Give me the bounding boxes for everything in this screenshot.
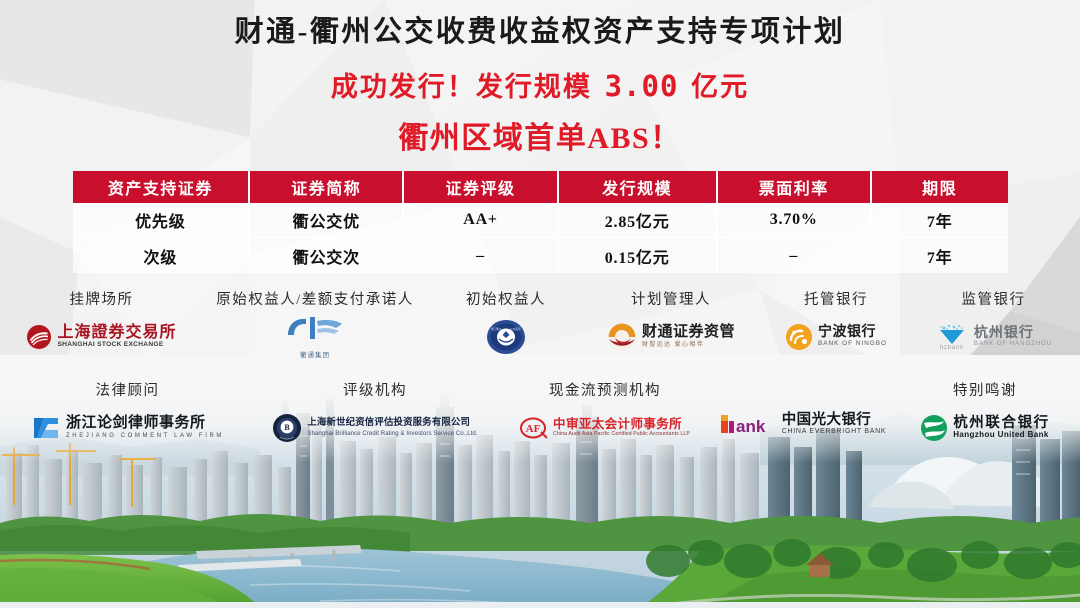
partner-special-thanks: 特别鸣谢 杭州联合银行 Hangzhou United Bank — [893, 379, 1078, 448]
shanghai-stock-exchange-logo: 上海證券交易所 SHANGHAI STOCK EXCHANGE — [4, 317, 199, 357]
hangzhou-bank-mark-icon — [935, 323, 969, 347]
cell-short-name: 衢公交优 — [250, 203, 404, 238]
logo-en-text: Hangzhou United Bank — [953, 431, 1050, 439]
cell-tranche: 优先级 — [73, 203, 251, 238]
qutong-mark-icon — [284, 315, 346, 343]
partner-label: 评级机构 — [253, 379, 498, 400]
logo-en-text: 财智远达 爱心相伴 — [642, 342, 735, 348]
china-everbright-bank-logo: ank 中国光大银行 CHINA EVERBRIGHT BANK — [713, 404, 893, 444]
zhejiang-comment-law-firm-logo: 浙江论剑律师事务所 ZHEJIANG COMMENT LAW FIRM — [3, 408, 253, 448]
partner-listing-venue: 挂牌场所 上海證券交易所 SHANGHAI STOCK EXCHANGE — [4, 288, 199, 357]
col-header-tranche: 资产支持证券 — [73, 171, 251, 203]
logo-cn-text: 中国光大银行 — [782, 413, 886, 428]
qutong-group-logo: 衢通集团 — [199, 317, 431, 357]
sse-mark-icon — [26, 324, 52, 350]
cell-short-name: 衢公交次 — [250, 238, 404, 273]
partners-row-primary: 挂牌场所 上海證券交易所 SHANGHAI STOCK EXCHANGE — [0, 288, 1080, 357]
hzbank-wordmark: hzbank — [935, 345, 969, 351]
issuance-amount: 3.00 — [601, 69, 683, 103]
partner-legal-counsel: 法律顾问 浙江论剑律师事务所 ZHEJIANG COMMENT LAW FIRM — [3, 379, 253, 448]
partner-originator: 原始权益人/差额支付承诺人 衢通集团 — [199, 288, 431, 357]
cell-rating: AA+ — [404, 203, 558, 238]
logo-en-text: ZHEJIANG COMMENT LAW FIRM — [66, 433, 224, 439]
cell-coupon: 3.70% — [718, 203, 872, 238]
deal-table-wrapper: 资产支持证券 证券简称 证券评级 发行规模 票面利率 期限 优先级 衢公交优 A… — [73, 171, 1008, 273]
table-row: 优先级 衢公交优 AA+ 2.85亿元 3.70% 7年 — [73, 203, 1008, 238]
logo-cn-text: 宁波银行 — [818, 326, 887, 341]
poster-root: 财通-衢州公交收费收益权资产支持专项计划 成功发行！发行规模 3.00 亿元 衢… — [0, 0, 1080, 608]
partner-label: 监管银行 — [911, 288, 1076, 309]
partner-label: 原始权益人/差额支付承诺人 — [199, 288, 431, 309]
bank-of-ningbo-logo: 宁波银行 BANK OF NINGBO — [761, 317, 911, 357]
svg-text:AF: AF — [526, 423, 541, 435]
hzunited-mark-icon — [920, 414, 948, 442]
cell-size: 2.85亿元 — [559, 203, 718, 238]
caitong-mark-icon — [607, 322, 637, 352]
table-header-row: 资产支持证券 证券简称 证券评级 发行规模 票面利率 期限 — [73, 171, 1008, 203]
partner-initial-beneficiary: 初始权益人 浙江衢州公交集团 — [431, 288, 581, 357]
caitong-securities-asset-management-logo: 财通证券资管 财智远达 爱心相伴 — [581, 317, 761, 357]
bus-company-seal-icon: 浙江衢州公交集团 — [486, 319, 526, 355]
bottom-edge-bar — [0, 602, 1080, 608]
partner-label: 初始权益人 — [431, 288, 581, 309]
cell-size: 0.15亿元 — [559, 238, 718, 273]
partner-rating-agency: 评级机构 B 上海新世纪资信评估投资服务有限公司 Shanghai Brilli… — [253, 379, 498, 448]
ningbo-mark-icon — [785, 323, 813, 351]
partner-label: 托管银行 — [761, 288, 911, 309]
partner-label: 现金流预测机构 — [498, 379, 713, 400]
partner-plan-manager: 计划管理人 财通证券资管 财智远达 爱心相伴 — [581, 288, 761, 357]
logo-cn-text: 杭州联合银行 — [953, 416, 1050, 431]
logo-en-text: Shanghai Brilliance Credit Rating & Inve… — [307, 431, 477, 437]
table-row: 次级 衢公交次 – 0.15亿元 – 7年 — [73, 238, 1008, 273]
logo-cn-text: 杭州银行 — [974, 327, 1052, 342]
cell-term: 7年 — [872, 203, 1008, 238]
partner-custodian-bank: 托管银行 宁波银行 BANK OF NINGBO — [761, 288, 911, 357]
col-header-short-name: 证券简称 — [250, 171, 404, 203]
partner-cashflow-forecaster: 现金流预测机构 AF 中审亚太会计师事务所 China Audit Asia P… — [498, 379, 713, 448]
issuance-summary: 成功发行！发行规模 3.00 亿元 — [0, 68, 1080, 105]
cpa-af-mark-icon: AF — [520, 416, 548, 440]
deal-table: 资产支持证券 证券简称 证券评级 发行规模 票面利率 期限 优先级 衢公交优 A… — [73, 171, 1008, 273]
partner-label: 法律顾问 — [3, 379, 253, 400]
logo-cn-text: 上海證券交易所 — [57, 325, 176, 342]
cell-coupon: – — [718, 238, 872, 273]
logo-en-text: BANK OF HANGZHOU — [974, 341, 1052, 347]
page-title: 财通-衢州公交收费收益权资产支持专项计划 — [0, 14, 1080, 50]
partner-supervisory-bank: 监管银行 hzbank — [911, 288, 1076, 357]
cell-term: 7年 — [872, 238, 1008, 273]
hangzhou-united-bank-logo: 杭州联合银行 Hangzhou United Bank — [893, 408, 1078, 448]
everbright-mark-icon: ank — [719, 411, 777, 437]
logo-cn-text: 中审亚太会计师事务所 — [553, 418, 690, 431]
col-header-term: 期限 — [872, 171, 1008, 203]
col-header-rating: 证券评级 — [404, 171, 558, 203]
headline-block: 财通-衢州公交收费收益权资产支持专项计划 成功发行！发行规模 3.00 亿元 衢… — [0, 0, 1080, 157]
issuance-prefix: 成功发行！发行规模 — [331, 72, 592, 102]
logo-cn-text: 财通证券资管 — [642, 325, 735, 341]
partner-label: 挂牌场所 — [4, 288, 199, 309]
shanghai-brilliance-credit-rating-logo: B 上海新世纪资信评估投资服务有限公司 Shanghai Brilliance … — [253, 408, 498, 448]
zjcomment-mark-icon — [31, 414, 61, 442]
partner-label: 计划管理人 — [581, 288, 761, 309]
cell-tranche: 次级 — [73, 238, 251, 273]
logo-en-text: SHANGHAI STOCK EXCHANGE — [57, 342, 176, 349]
partner-label: 特别鸣谢 — [893, 379, 1078, 400]
tagline: 衢州区域首单ABS！ — [0, 121, 1080, 157]
brilliance-mark-icon: B — [272, 413, 302, 443]
quzhou-bus-company-seal-logo: 浙江衢州公交集团 — [431, 317, 581, 357]
svg-text:公交集团: 公交集团 — [510, 327, 521, 331]
logo-cn-text: 上海新世纪资信评估投资服务有限公司 — [307, 419, 477, 429]
issuance-suffix: 亿元 — [691, 72, 749, 102]
logo-cn-text: 浙江论剑律师事务所 — [66, 416, 224, 432]
col-header-coupon: 票面利率 — [718, 171, 872, 203]
logo-cn-text: 衢通集团 — [284, 349, 346, 359]
col-header-size: 发行规模 — [559, 171, 718, 203]
logo-en-text: BANK OF NINGBO — [818, 341, 887, 348]
svg-text:B: B — [285, 423, 291, 432]
partners-row-secondary: 法律顾问 浙江论剑律师事务所 ZHEJIANG COMMENT LAW FIRM — [0, 379, 1080, 448]
svg-text:ank: ank — [736, 417, 766, 436]
svg-text:浙江衢州: 浙江衢州 — [491, 327, 502, 331]
logo-en-text: CHINA EVERBRIGHT BANK — [782, 428, 886, 435]
china-audit-asia-pacific-cpa-logo: AF 中审亚太会计师事务所 China Audit Asia Pacific C… — [498, 408, 713, 448]
partner-everbright-bank: ank 中国光大银行 CHINA EVERBRIGHT BANK — [713, 379, 893, 444]
bank-of-hangzhou-logo: hzbank 杭州银行 BANK OF HANGZHOU — [911, 317, 1076, 357]
logo-en-text: China Audit Asia Pacific Certified Publi… — [553, 432, 690, 437]
partner-label — [713, 379, 893, 396]
cell-rating: – — [404, 238, 558, 273]
